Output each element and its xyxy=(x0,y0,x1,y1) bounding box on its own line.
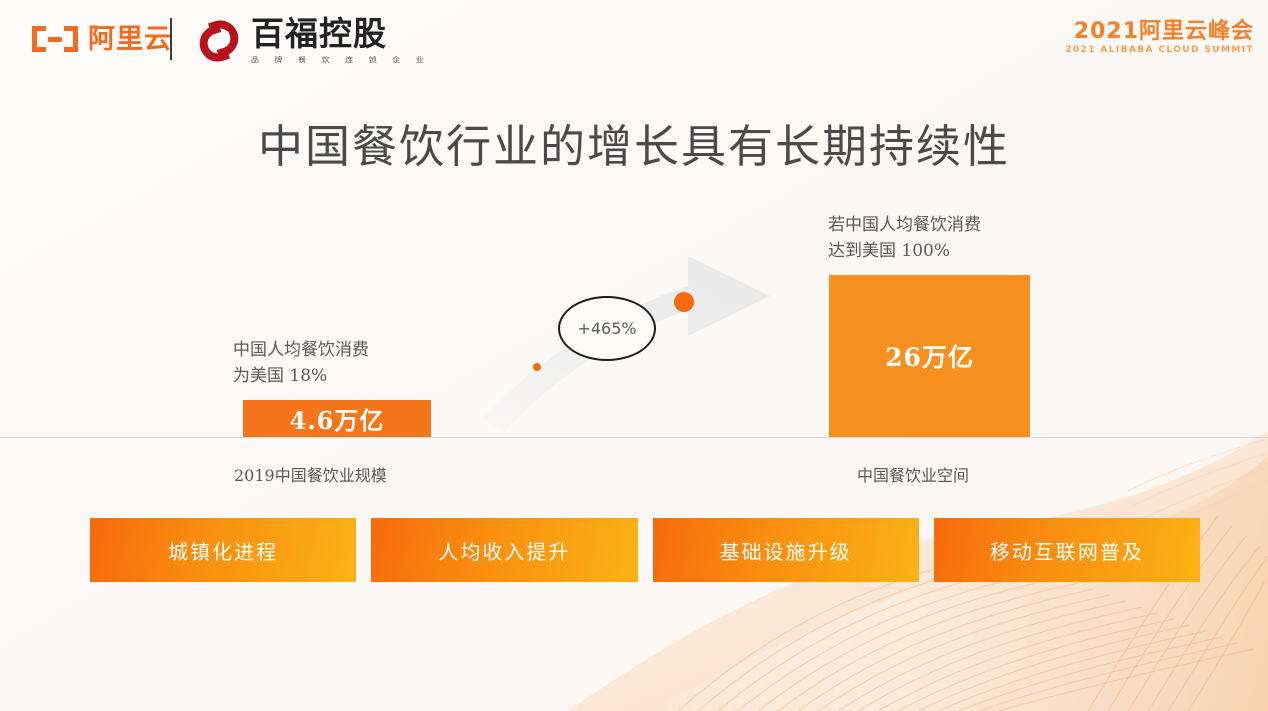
driver-label: 人均收入提升 xyxy=(438,536,570,565)
growth-badge-text: +465% xyxy=(577,319,636,338)
orange-dot-large-icon xyxy=(674,292,694,312)
driver-box-row: 城镇化进程 人均收入提升 基础设施升级 移动互联网普及 xyxy=(90,518,1200,582)
bar-value-left: 4.6万亿 xyxy=(290,401,385,436)
driver-label: 城镇化进程 xyxy=(168,536,278,565)
bar-caption-right-line1: 若中国人均餐饮消费 xyxy=(828,212,981,238)
chart-area: 中国人均餐饮消费 为美国 18% 4.6万亿 2019中国餐饮业规模 若中国人均… xyxy=(0,0,1268,500)
axis-label-left: 2019中国餐饮业规模 xyxy=(234,462,387,486)
chart-baseline xyxy=(0,437,1268,438)
bar-caption-left-line2: 为美国 18% xyxy=(233,363,369,389)
bar-caption-right-line2: 达到美国 100% xyxy=(828,238,981,264)
bar-value-right: 26万亿 xyxy=(885,338,974,374)
bar-caption-left-line1: 中国人均餐饮消费 xyxy=(233,337,369,363)
driver-box-income[interactable]: 人均收入提升 xyxy=(371,518,637,582)
bar-2019-scale: 4.6万亿 xyxy=(243,400,431,437)
driver-label: 基础设施升级 xyxy=(720,536,852,565)
slide-canvas: 阿里云 百福控股 品 牌 餐 饮 连 锁 企 业 2021阿里云峰会 2021 … xyxy=(0,0,1268,711)
driver-box-mobile-internet[interactable]: 移动互联网普及 xyxy=(934,518,1200,582)
bar-potential-space: 26万亿 xyxy=(829,275,1030,437)
driver-box-urbanization[interactable]: 城镇化进程 xyxy=(90,518,356,582)
driver-label: 移动互联网普及 xyxy=(990,536,1144,565)
bar-caption-right: 若中国人均餐饮消费 达到美国 100% xyxy=(828,212,981,265)
bar-caption-left: 中国人均餐饮消费 为美国 18% xyxy=(233,337,369,390)
growth-badge: +465% xyxy=(558,296,656,361)
orange-dot-small-icon xyxy=(533,363,541,371)
axis-label-right: 中国餐饮业空间 xyxy=(857,462,969,486)
driver-box-infrastructure[interactable]: 基础设施升级 xyxy=(653,518,919,582)
